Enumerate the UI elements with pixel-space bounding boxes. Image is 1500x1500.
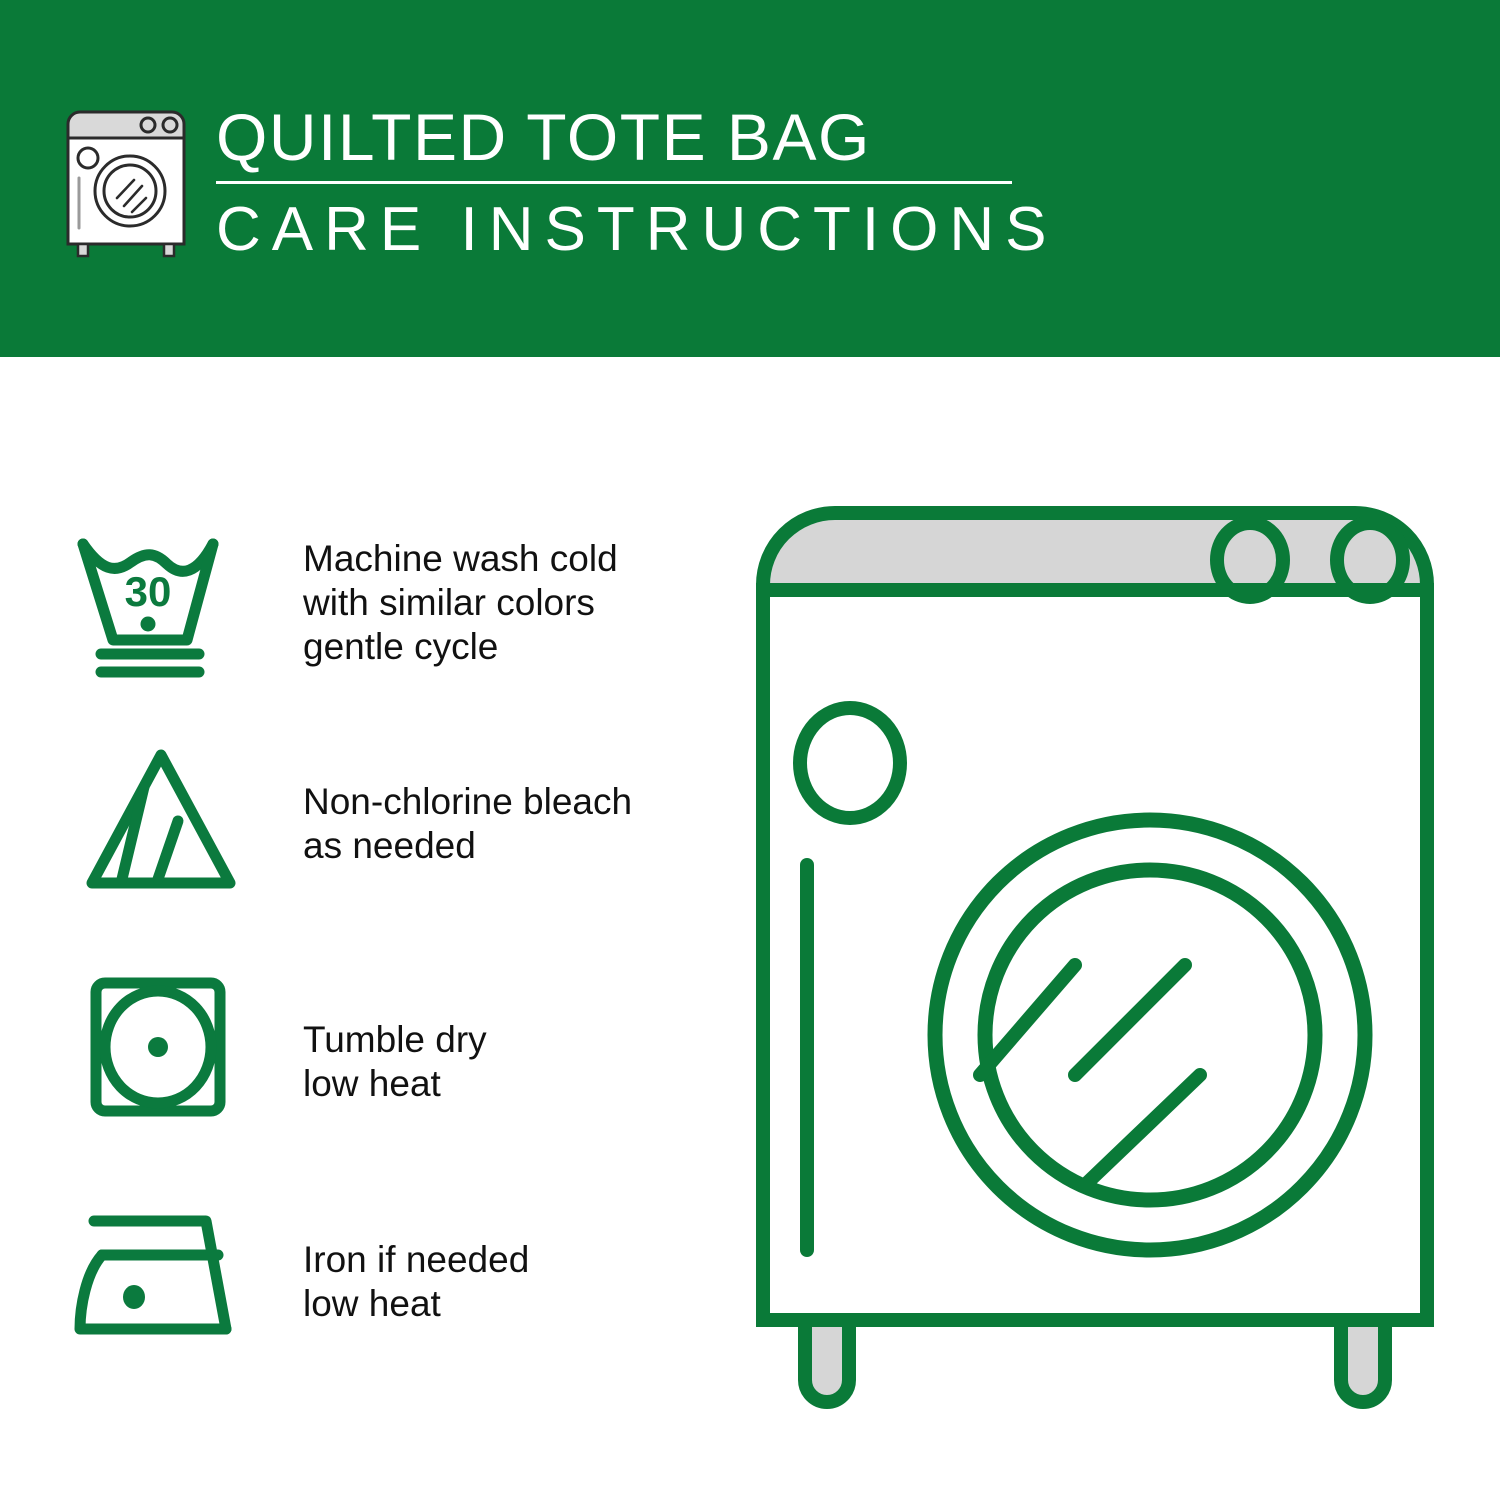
svg-text:30: 30: [125, 568, 172, 615]
title-divider: [216, 181, 1012, 184]
care-row-dry: Tumble dry low heat: [0, 973, 730, 1173]
washing-machine-icon: [62, 106, 190, 258]
care-row-bleach: Non-chlorine bleach as needed: [0, 735, 730, 935]
page-subtitle: CARE INSTRUCTIONS: [216, 195, 1116, 265]
machine-wash-30-basin-icon: 30: [75, 532, 253, 682]
care-text-bleach: Non-chlorine bleach as needed: [303, 780, 632, 868]
care-row-wash: 30 Machine wash cold with similar colors…: [0, 510, 730, 710]
header-banner: QUILTED TOTE BAG CARE INSTRUCTIONS: [0, 0, 1500, 357]
leg-right: [1341, 1320, 1385, 1402]
control-panel: [763, 513, 1427, 590]
non-chlorine-bleach-triangle-icon: [80, 745, 242, 893]
care-text-wash: Machine wash cold with similar colors ge…: [303, 537, 618, 669]
care-instructions-infographic: QUILTED TOTE BAG CARE INSTRUCTIONS: [0, 0, 1500, 1500]
washing-machine-illustration: [745, 495, 1445, 1420]
care-row-iron: Iron if needed low heat: [0, 1193, 730, 1393]
leg-left: [805, 1320, 849, 1402]
care-text-iron: Iron if needed low heat: [303, 1238, 529, 1326]
care-text-dry: Tumble dry low heat: [303, 1018, 487, 1106]
page-title: QUILTED TOTE BAG: [216, 100, 1116, 174]
header-title-block: QUILTED TOTE BAG CARE INSTRUCTIONS: [216, 100, 1116, 265]
iron-low-heat-icon: [72, 1211, 244, 1341]
machine-body: [763, 590, 1427, 1320]
tumble-dry-low-heat-icon: [88, 973, 228, 1121]
